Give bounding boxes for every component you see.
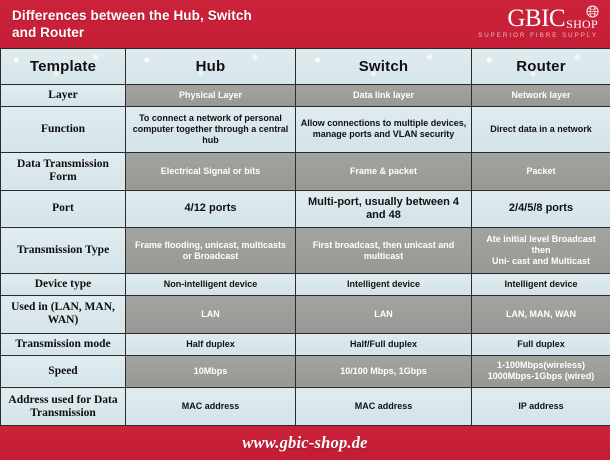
slide-root: Differences between the Hub, Switch and … xyxy=(0,0,610,460)
row-label: Address used for Data Transmission xyxy=(1,388,126,426)
page-title-line-2: and Router xyxy=(12,24,252,41)
brand-logo: GBIC SHOP SUPERIOR FIBRE SUPPLY xyxy=(478,7,602,39)
brand-suffix: SHOP xyxy=(565,18,598,31)
table-row: Device typeNon-intelligent deviceIntelli… xyxy=(1,274,610,296)
table-row: Used in (LAN, MAN, WAN)LANLANLAN, MAN, W… xyxy=(1,296,610,334)
header-band: Differences between the Hub, Switch and … xyxy=(0,0,610,48)
cell-switch: 10/100 Mbps, 1Gbps xyxy=(296,355,472,388)
brand-name: GBIC xyxy=(507,7,565,31)
row-label: Layer xyxy=(1,85,126,107)
cell-switch: First broadcast, then unicast and multic… xyxy=(296,228,472,274)
row-label: Transmission mode xyxy=(1,333,126,355)
cell-router: IP address xyxy=(472,388,610,426)
cell-hub: 10Mbps xyxy=(126,355,296,388)
row-label: Data Transmission Form xyxy=(1,152,126,190)
column-header-hub: Hub xyxy=(126,49,296,85)
table-row: Data Transmission FormElectrical Signal … xyxy=(1,152,610,190)
cell-hub: Half duplex xyxy=(126,333,296,355)
cell-hub: Frame flooding, unicast, multicasts or B… xyxy=(126,228,296,274)
cell-router: Intelligent device xyxy=(472,274,610,296)
footer-website-url: www.gbic-shop.de xyxy=(242,433,367,453)
table-header-row: Template Hub Switch Router xyxy=(1,49,610,85)
brand-tagline: SUPERIOR FIBRE SUPPLY xyxy=(478,32,598,39)
cell-router: Network layer xyxy=(472,85,610,107)
row-label: Transmission Type xyxy=(1,228,126,274)
comparison-table-wrapper: Template Hub Switch Router LayerPhysical… xyxy=(0,48,610,426)
cell-hub: Electrical Signal or bits xyxy=(126,152,296,190)
cell-hub: MAC address xyxy=(126,388,296,426)
cell-hub: Physical Layer xyxy=(126,85,296,107)
footer-band: www.gbic-shop.de xyxy=(0,426,610,460)
cell-router: Ate initial level Broadcast thenUni- cas… xyxy=(472,228,610,274)
globe-icon xyxy=(585,4,600,19)
table-row: Speed10Mbps10/100 Mbps, 1Gbps1-100Mbps(w… xyxy=(1,355,610,388)
table-row: FunctionTo connect a network of personal… xyxy=(1,106,610,152)
column-header-switch: Switch xyxy=(296,49,472,85)
row-label: Speed xyxy=(1,355,126,388)
table-row: LayerPhysical LayerData link layerNetwor… xyxy=(1,85,610,107)
cell-switch: Data link layer xyxy=(296,85,472,107)
cell-router: 2/4/5/8 ports xyxy=(472,190,610,228)
comparison-table: Template Hub Switch Router LayerPhysical… xyxy=(0,48,610,426)
cell-switch: Intelligent device xyxy=(296,274,472,296)
table-body: LayerPhysical LayerData link layerNetwor… xyxy=(1,85,610,426)
cell-switch: Half/Full duplex xyxy=(296,333,472,355)
page-title: Differences between the Hub, Switch and … xyxy=(12,7,252,41)
cell-router: 1-100Mbps(wireless)1000Mbps-1Gbps (wired… xyxy=(472,355,610,388)
column-header-template: Template xyxy=(1,49,126,85)
table-row: Port4/12 portsMulti-port, usually betwee… xyxy=(1,190,610,228)
row-label: Port xyxy=(1,190,126,228)
page-title-line-1: Differences between the Hub, Switch xyxy=(12,8,252,23)
cell-router: Packet xyxy=(472,152,610,190)
cell-router: LAN, MAN, WAN xyxy=(472,296,610,334)
cell-router: Direct data in a network xyxy=(472,106,610,152)
cell-router: Full duplex xyxy=(472,333,610,355)
row-label: Device type xyxy=(1,274,126,296)
column-header-router: Router xyxy=(472,49,610,85)
cell-switch: Allow connections to multiple devices, m… xyxy=(296,106,472,152)
cell-hub: 4/12 ports xyxy=(126,190,296,228)
table-row: Address used for Data TransmissionMAC ad… xyxy=(1,388,610,426)
cell-switch: Frame & packet xyxy=(296,152,472,190)
cell-switch: MAC address xyxy=(296,388,472,426)
cell-hub: LAN xyxy=(126,296,296,334)
table-row: Transmission TypeFrame flooding, unicast… xyxy=(1,228,610,274)
cell-switch: LAN xyxy=(296,296,472,334)
cell-hub: To connect a network of personal compute… xyxy=(126,106,296,152)
row-label: Used in (LAN, MAN, WAN) xyxy=(1,296,126,334)
row-label: Function xyxy=(1,106,126,152)
cell-hub: Non-intelligent device xyxy=(126,274,296,296)
table-row: Transmission modeHalf duplexHalf/Full du… xyxy=(1,333,610,355)
cell-switch: Multi-port, usually between 4 and 48 xyxy=(296,190,472,228)
